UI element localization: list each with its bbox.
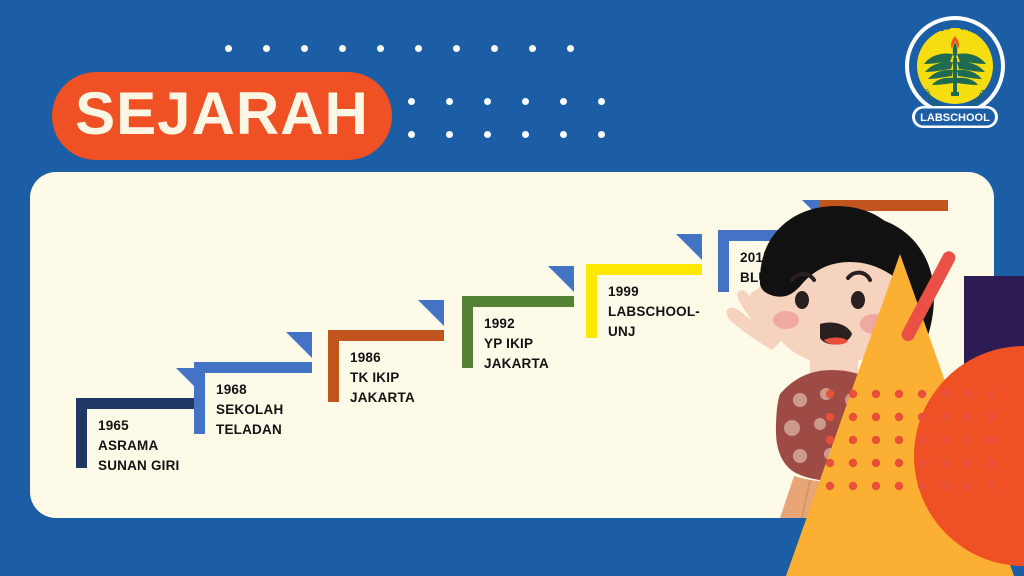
decor-red-dot bbox=[918, 459, 926, 467]
decor-red-dot bbox=[872, 436, 880, 444]
decor-dot bbox=[225, 45, 232, 52]
decor-dot bbox=[484, 131, 491, 138]
decor-red-dot bbox=[895, 413, 903, 421]
decor-dot bbox=[408, 98, 415, 105]
decor-red-dot bbox=[826, 459, 834, 467]
step-label: 1986TK IKIPJAKARTA bbox=[350, 348, 415, 408]
step-year: 1965 bbox=[98, 416, 180, 436]
decor-red-dot bbox=[941, 482, 949, 490]
step-line3: TELADAN bbox=[216, 420, 283, 440]
step-bracket-side bbox=[76, 398, 87, 468]
decor-red-dot bbox=[941, 390, 949, 398]
logo-banner-text: LABSCHOOL bbox=[920, 112, 990, 124]
decor-red-dot bbox=[872, 482, 880, 490]
bottom-right-decoration bbox=[664, 246, 1024, 576]
timeline-step: 1986TK IKIPJAKARTA bbox=[328, 330, 444, 442]
step-label: 1965ASRAMASUNAN GIRI bbox=[98, 416, 180, 476]
step-bracket-side bbox=[194, 362, 205, 434]
decor-red-dot bbox=[918, 482, 926, 490]
decor-dot bbox=[598, 131, 605, 138]
decor-dot bbox=[301, 45, 308, 52]
labschool-unj-logo: KB-TK • SD • SMP • SMA UNIVERSITAS NEGER… bbox=[900, 8, 1010, 136]
decor-red-dot bbox=[987, 436, 995, 444]
page-title-pill: SEJARAH bbox=[52, 72, 392, 160]
decor-red-dot bbox=[964, 413, 972, 421]
timeline-step: 1968SEKOLAHTELADAN bbox=[194, 362, 312, 474]
step-year: 1992 bbox=[484, 314, 549, 334]
decor-red-dot bbox=[987, 459, 995, 467]
decor-red-dot bbox=[987, 413, 995, 421]
decor-red-dot bbox=[826, 482, 834, 490]
step-year: 1986 bbox=[350, 348, 415, 368]
decor-red-dot bbox=[849, 459, 857, 467]
decor-dot bbox=[522, 98, 529, 105]
decor-red-dot bbox=[826, 436, 834, 444]
step-line3: SUNAN GIRI bbox=[98, 456, 180, 476]
decor-dot bbox=[484, 98, 491, 105]
decor-red-dot bbox=[849, 436, 857, 444]
step-bracket-side bbox=[328, 330, 339, 402]
decor-red-dot bbox=[872, 459, 880, 467]
decor-red-dot bbox=[826, 390, 834, 398]
decor-dot bbox=[560, 131, 567, 138]
step-line2: TK IKIP bbox=[350, 368, 415, 388]
step-connector-arrow bbox=[286, 332, 312, 358]
step-line2: SEKOLAH bbox=[216, 400, 283, 420]
step-bracket-top bbox=[462, 296, 574, 307]
step-line3: JAKARTA bbox=[484, 354, 549, 374]
decor-dot bbox=[522, 131, 529, 138]
decor-dot bbox=[560, 98, 567, 105]
decor-red-dot bbox=[895, 436, 903, 444]
step-line2: YP IKIP bbox=[484, 334, 549, 354]
decor-red-dot bbox=[918, 436, 926, 444]
step-bracket-top bbox=[328, 330, 444, 341]
decor-dot bbox=[377, 45, 384, 52]
decor-red-dot bbox=[895, 482, 903, 490]
decor-red-dot bbox=[895, 390, 903, 398]
timeline-step: 1965ASRAMASUNAN GIRI bbox=[76, 398, 202, 508]
decor-red-dot bbox=[941, 413, 949, 421]
decor-red-dot bbox=[987, 482, 995, 490]
decor-red-dot bbox=[918, 413, 926, 421]
decor-dot bbox=[567, 45, 574, 52]
step-bracket-side bbox=[462, 296, 473, 368]
decor-red-dot bbox=[964, 390, 972, 398]
timeline-step: 1992YP IKIPJAKARTA bbox=[462, 296, 574, 408]
step-bracket-side bbox=[586, 264, 597, 338]
decor-dot bbox=[263, 45, 270, 52]
decor-red-dot bbox=[964, 482, 972, 490]
decor-red-dot bbox=[849, 482, 857, 490]
step-line3: JAKARTA bbox=[350, 388, 415, 408]
decor-red-dot bbox=[826, 413, 834, 421]
decor-dot bbox=[491, 45, 498, 52]
decor-dot bbox=[598, 98, 605, 105]
step-line2: ASRAMA bbox=[98, 436, 180, 456]
decor-red-dot bbox=[849, 413, 857, 421]
decor-red-dot bbox=[987, 390, 995, 398]
decor-red-dot bbox=[872, 390, 880, 398]
decor-red-dot bbox=[895, 459, 903, 467]
step-bracket-top bbox=[76, 398, 202, 409]
decor-dot bbox=[529, 45, 536, 52]
decor-dot bbox=[446, 98, 453, 105]
decor-red-dot bbox=[941, 459, 949, 467]
decor-red-dot bbox=[964, 459, 972, 467]
step-label: 1968SEKOLAHTELADAN bbox=[216, 380, 283, 440]
step-label: 1992YP IKIPJAKARTA bbox=[484, 314, 549, 374]
decor-red-dot bbox=[918, 390, 926, 398]
decor-red-dot bbox=[941, 436, 949, 444]
decor-red-dot bbox=[964, 436, 972, 444]
step-connector-arrow bbox=[548, 266, 574, 292]
decor-dot bbox=[453, 45, 460, 52]
logo-svg: KB-TK • SD • SMP • SMA UNIVERSITAS NEGER… bbox=[900, 8, 1010, 136]
decor-dot bbox=[408, 131, 415, 138]
page-title: SEJARAH bbox=[75, 84, 369, 148]
step-connector-arrow bbox=[418, 300, 444, 326]
step-bracket-top bbox=[194, 362, 312, 373]
decor-red-dot bbox=[849, 390, 857, 398]
decor-dot bbox=[339, 45, 346, 52]
decor-dot bbox=[415, 45, 422, 52]
decor-red-dot bbox=[872, 413, 880, 421]
decor-dot bbox=[446, 131, 453, 138]
step-year: 1968 bbox=[216, 380, 283, 400]
